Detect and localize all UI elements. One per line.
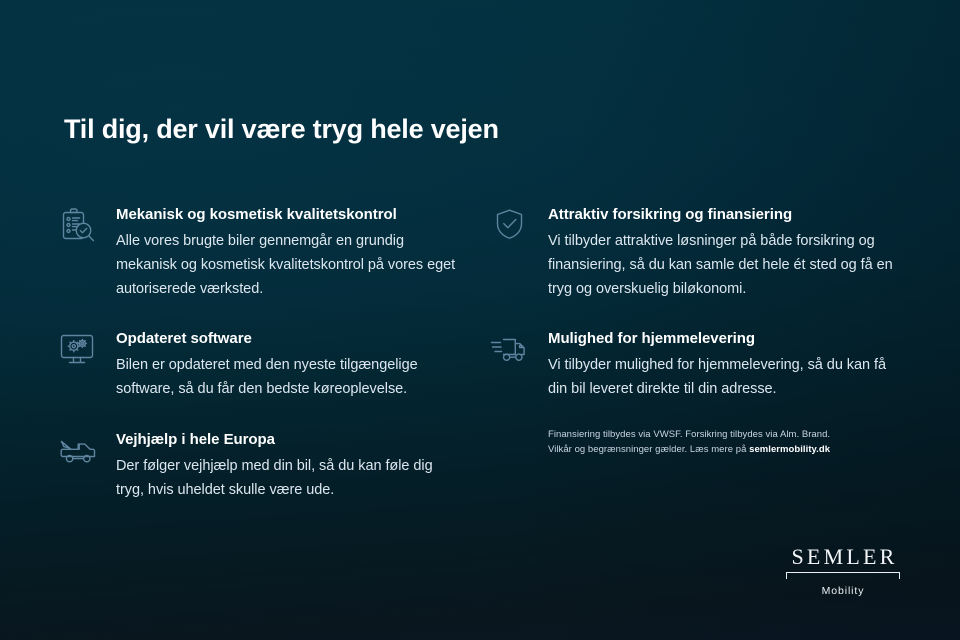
fineprint-line-2-text: Vilkår og begrænsninger gælder. Læs mere… — [548, 444, 749, 455]
feature-body: Bilen er opdateret med den nyeste tilgæn… — [116, 353, 456, 401]
feature-title: Mekanisk og kosmetisk kvalitetskontrol — [116, 205, 456, 224]
feature-body: Der følger vejhjælp med din bil, så du k… — [116, 454, 456, 502]
feature-column-right: Attraktiv forsikring og finansiering Vi … — [488, 205, 908, 457]
feature-title: Mulighed for hjemmelevering — [548, 329, 908, 348]
logo-wordmark: SEMLER — [784, 545, 902, 569]
logo-subtitle: Mobility — [784, 585, 902, 598]
semler-mobility-logo: SEMLER Mobility — [784, 545, 902, 598]
feature-title: Attraktiv forsikring og finansiering — [548, 205, 908, 224]
shield-check-icon — [490, 207, 534, 247]
fineprint-disclaimer: Finansiering tilbydes via VWSF. Forsikri… — [488, 427, 908, 457]
feature-item-roadside-assistance: Vejhjælp i hele Europa Der følger vejhjæ… — [56, 430, 456, 502]
fineprint-website-link[interactable]: semlermobility.dk — [749, 444, 830, 455]
delivery-truck-icon — [490, 331, 534, 371]
feature-column-left: Mekanisk og kosmetisk kvalitetskontrol A… — [56, 205, 456, 526]
page-title: Til dig, der vil være tryg hele vejen — [64, 114, 499, 145]
feature-item-quality-control: Mekanisk og kosmetisk kvalitetskontrol A… — [56, 205, 456, 301]
fineprint-line-2: Vilkår og begrænsninger gælder. Læs mere… — [548, 442, 908, 457]
fineprint-line-1: Finansiering tilbydes via VWSF. Forsikri… — [548, 427, 908, 442]
monitor-gears-icon — [58, 331, 102, 371]
feature-title: Vejhjælp i hele Europa — [116, 430, 456, 449]
logo-divider-rule — [786, 572, 900, 580]
slide-canvas: Til dig, der vil være tryg hele vejen — [0, 0, 960, 640]
feature-body: Vi tilbyder mulighed for hjemmelevering,… — [548, 353, 908, 401]
clipboard-magnifier-icon — [58, 207, 102, 247]
tow-truck-icon — [58, 432, 102, 472]
feature-item-updated-software: Opdateret software Bilen er opdateret me… — [56, 329, 456, 401]
feature-body: Vi tilbyder attraktive løsninger på både… — [548, 229, 908, 301]
feature-body: Alle vores brugte biler gennemgår en gru… — [116, 229, 456, 301]
feature-item-insurance-financing: Attraktiv forsikring og finansiering Vi … — [488, 205, 908, 301]
feature-item-home-delivery: Mulighed for hjemmelevering Vi tilbyder … — [488, 329, 908, 401]
feature-title: Opdateret software — [116, 329, 456, 348]
